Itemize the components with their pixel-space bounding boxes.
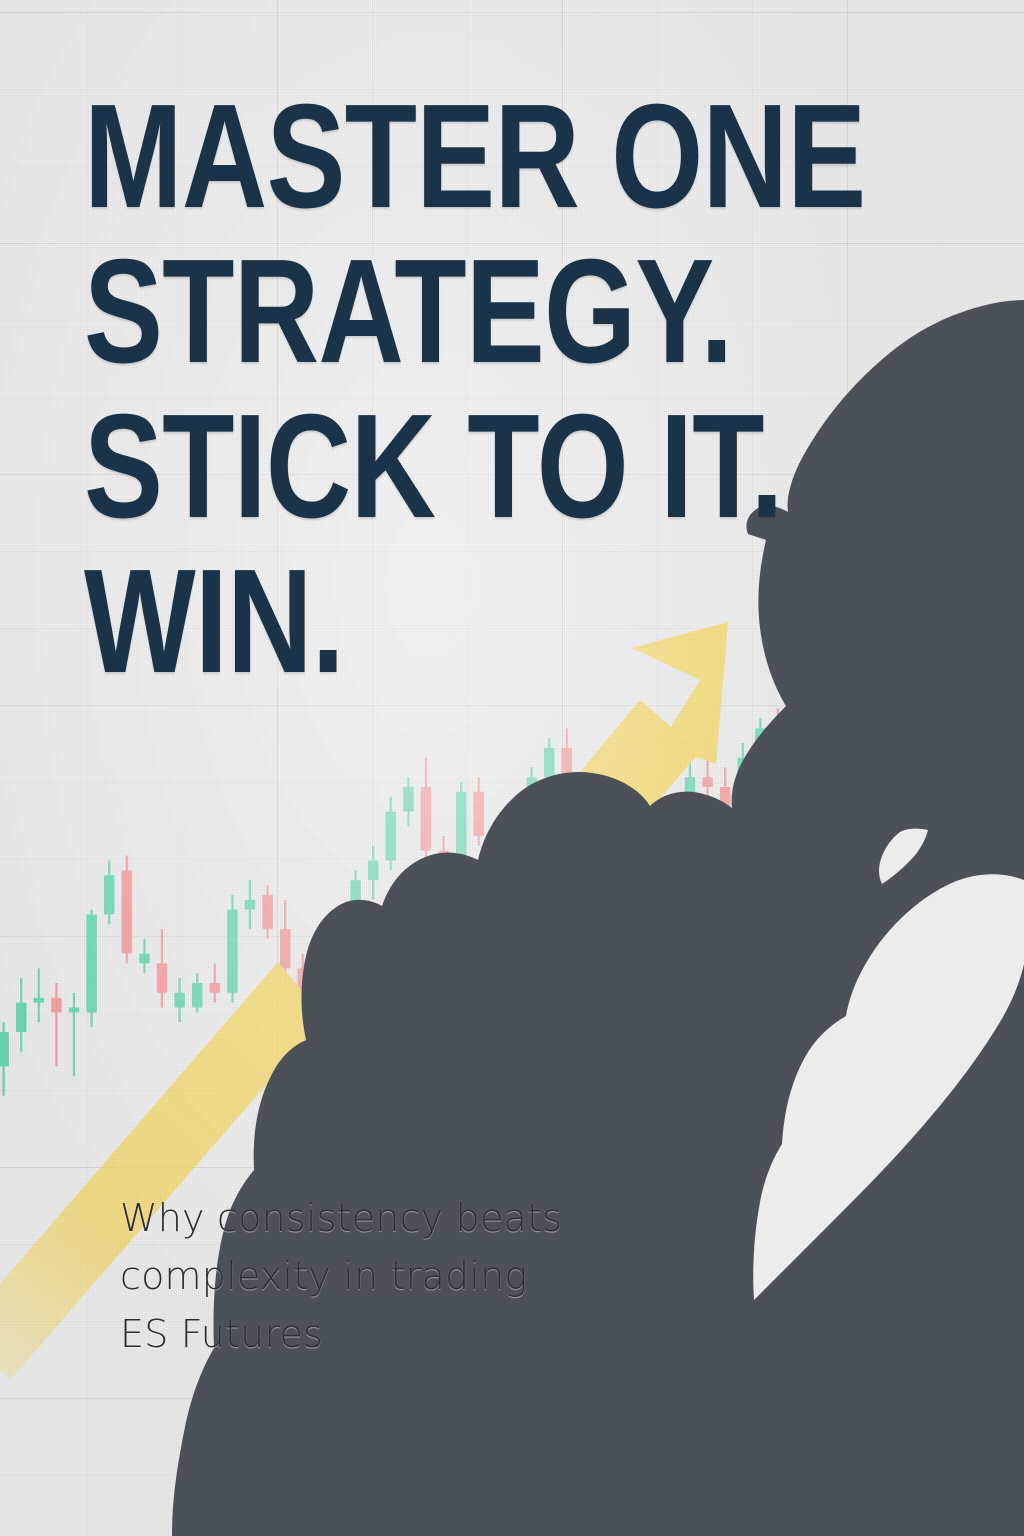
headline-line-4: WIN.	[84, 549, 692, 694]
subtitle-line-3: ES Futures	[120, 1306, 680, 1364]
headline-line-3: STICK TO IT.	[84, 394, 692, 539]
poster-canvas: MASTER ONE STRATEGY. STICK TO IT. WIN. W…	[0, 0, 1024, 1536]
headline-line-1: MASTER ONE	[84, 84, 692, 229]
subtitle-line-1: Why consistency beats	[120, 1190, 680, 1248]
headline-line-2: STRATEGY.	[84, 239, 692, 384]
page-title: MASTER ONE STRATEGY. STICK TO IT. WIN.	[84, 84, 844, 704]
subtitle-line-2: complexity in trading	[120, 1248, 680, 1306]
subtitle: Why consistency beats complexity in trad…	[120, 1190, 680, 1363]
